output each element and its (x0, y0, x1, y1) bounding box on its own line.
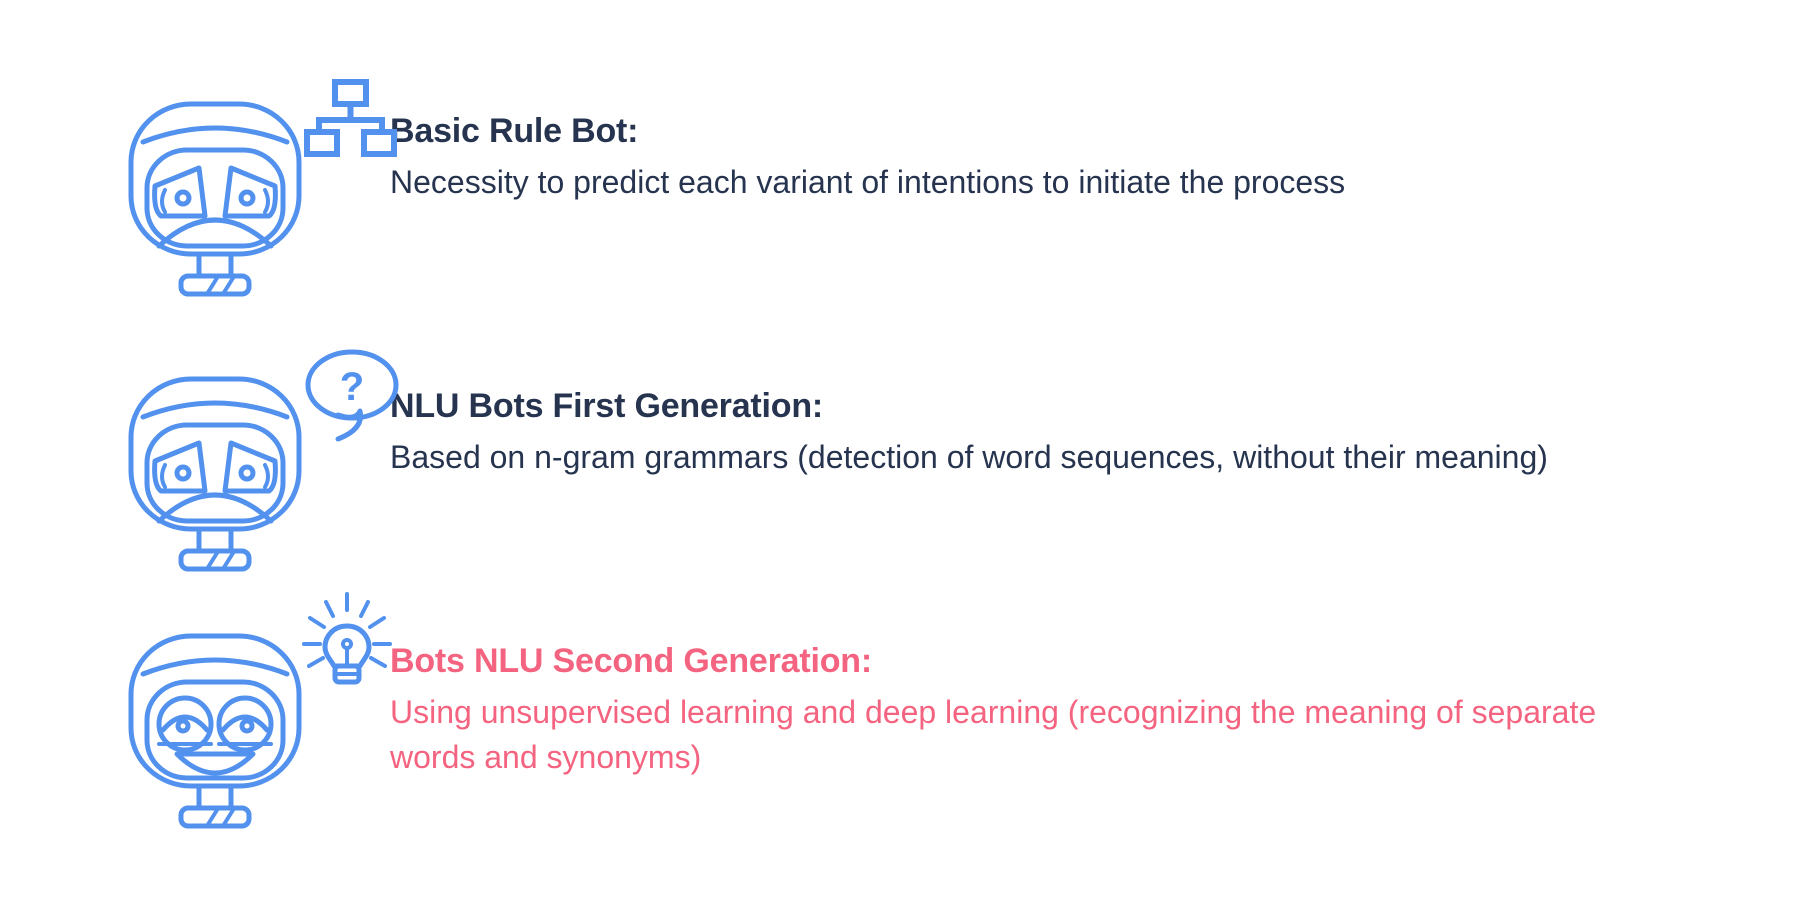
icon-column: ? (0, 345, 330, 585)
text-column: Basic Rule Bot: Necessity to predict eac… (330, 70, 1800, 205)
block-heading: Bots NLU Second Generation: (390, 640, 1800, 683)
block-heading: NLU Bots First Generation: (390, 385, 1800, 428)
sad-robot-icon (125, 373, 305, 573)
block-body: Necessity to predict each variant of int… (390, 160, 1620, 205)
chatbot-generations-infographic: Basic Rule Bot: Necessity to predict eac… (0, 0, 1800, 900)
lightbulb-icon (300, 590, 395, 685)
question-speech-bubble-icon: ? (298, 347, 403, 442)
question-mark-glyph: ? (340, 365, 364, 409)
happy-robot-icon (125, 630, 305, 830)
block-basic-rule-bot: Basic Rule Bot: Necessity to predict eac… (0, 70, 1800, 310)
block-bots-nlu-second-generation: Bots NLU Second Generation: Using unsupe… (0, 590, 1800, 840)
block-nlu-bots-first-generation: ? NLU Bots First Generation: Based on n-… (0, 345, 1800, 585)
text-column: NLU Bots First Generation: Based on n-gr… (330, 345, 1800, 480)
icon-column (0, 70, 330, 310)
sad-robot-icon (125, 98, 305, 298)
block-body: Based on n-gram grammars (detection of w… (390, 435, 1620, 480)
block-heading: Basic Rule Bot: (390, 110, 1800, 153)
block-body: Using unsupervised learning and deep lea… (390, 690, 1620, 781)
text-column: Bots NLU Second Generation: Using unsupe… (330, 590, 1800, 780)
org-chart-icon (305, 78, 395, 158)
icon-column (0, 590, 330, 830)
